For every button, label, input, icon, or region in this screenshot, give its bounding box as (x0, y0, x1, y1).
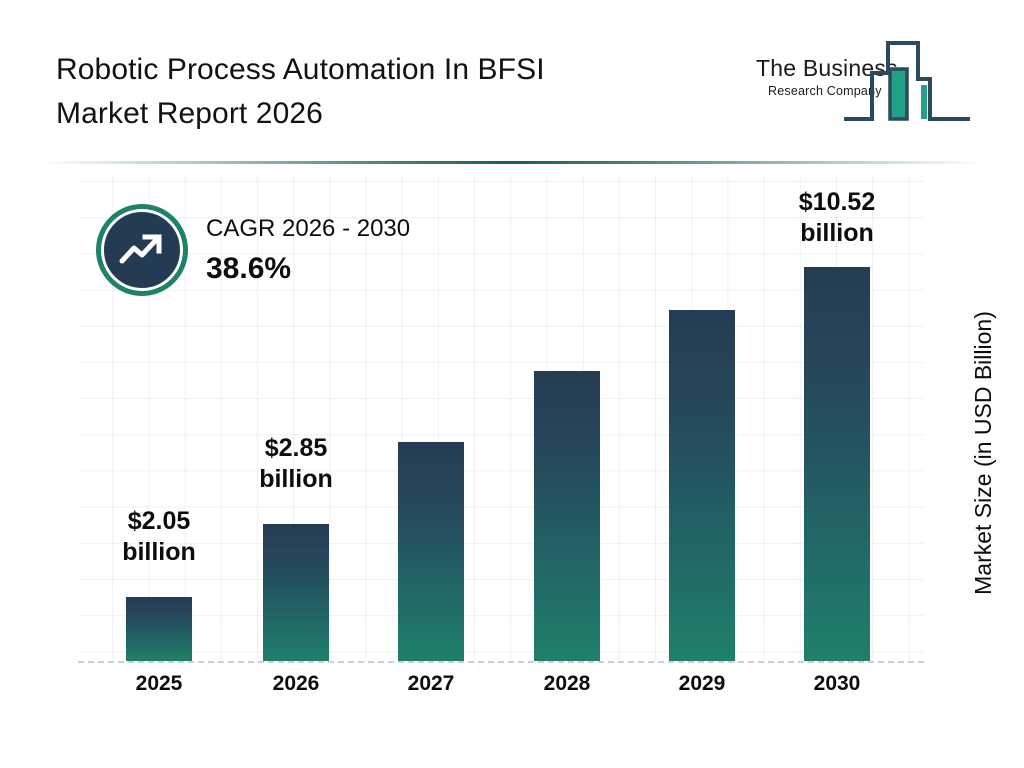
page-title: Robotic Process Automation In BFSI Marke… (56, 48, 696, 135)
cagr-circle (96, 204, 188, 296)
chart-container: $2.05 billion $2.85 billion $10.52 billi… (56, 176, 968, 676)
cagr-text-block: CAGR 2026 - 2030 38.6% (206, 214, 506, 288)
bar-2028[interactable] (534, 371, 600, 661)
header-divider (40, 161, 984, 164)
bar-label-2025-amount: $2.05 (84, 506, 234, 537)
bar-label-2025: $2.05 billion (84, 506, 234, 567)
bar-2029[interactable] (669, 310, 735, 661)
cagr-badge: CAGR 2026 - 2030 38.6% (96, 204, 516, 304)
page-title-line-2: Market Report 2026 (56, 92, 696, 136)
bar-2026[interactable] (263, 524, 329, 661)
bar-label-2025-unit: billion (84, 537, 234, 568)
bar-label-2030-amount: $10.52 (762, 187, 912, 218)
trending-up-arrow-icon (101, 209, 183, 291)
x-tick-2025: 2025 (84, 672, 234, 696)
bar-label-2026-amount: $2.85 (221, 433, 371, 464)
bar-2027[interactable] (398, 442, 464, 661)
x-tick-2029: 2029 (627, 672, 777, 696)
bar-label-2030-unit: billion (762, 218, 912, 249)
bar-label-2026-unit: billion (221, 464, 371, 495)
cagr-heading: CAGR 2026 - 2030 (206, 214, 506, 244)
company-logo: The Business Research Company (732, 33, 972, 128)
x-tick-2026: 2026 (221, 672, 371, 696)
bar-label-2026: $2.85 billion (221, 433, 371, 494)
x-tick-2028: 2028 (492, 672, 642, 696)
bar-2025[interactable] (126, 597, 192, 661)
x-tick-2027: 2027 (356, 672, 506, 696)
report-chart-page: Robotic Process Automation In BFSI Marke… (0, 0, 1024, 768)
page-header: Robotic Process Automation In BFSI Marke… (0, 0, 1024, 150)
bar-2030[interactable] (804, 267, 870, 661)
page-title-line-1: Robotic Process Automation In BFSI (56, 48, 696, 92)
y-axis-title: Market Size (in USD Billion) (970, 268, 997, 638)
x-axis: 2025 2026 2027 2028 2029 2030 (56, 672, 968, 708)
cagr-value: 38.6% (206, 250, 506, 288)
x-tick-2030: 2030 (762, 672, 912, 696)
bar-label-2030: $10.52 billion (762, 187, 912, 248)
bar-skyline-icon (842, 33, 972, 128)
